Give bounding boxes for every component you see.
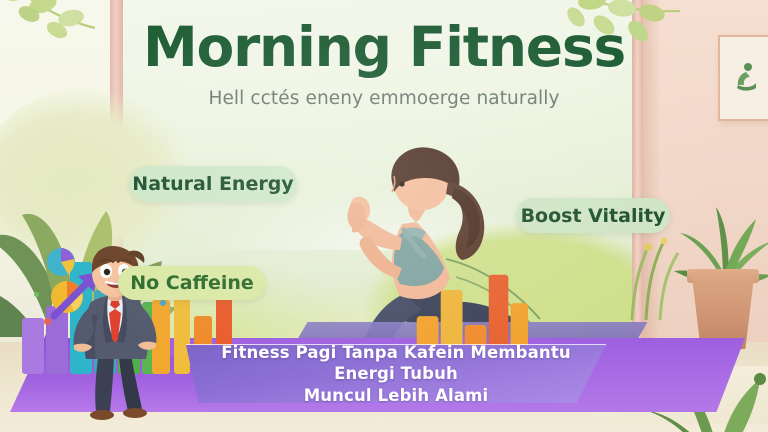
poster-canvas: Morning Fitness Hell cctés eneny emmoerg… bbox=[0, 0, 768, 432]
caption-line-2: Muncul Lebih Alami bbox=[304, 386, 489, 405]
badge-label: No Caffeine bbox=[130, 272, 254, 294]
caption-text: Fitness Pagi Tanpa Kafein Membantu Energ… bbox=[186, 342, 606, 405]
badge-natural-energy[interactable]: Natural Energy bbox=[129, 166, 297, 202]
decor-dot bbox=[34, 292, 39, 297]
caption-bar: Fitness Pagi Tanpa Kafein Membantu Energ… bbox=[186, 345, 606, 403]
badge-no-caffeine[interactable]: No Caffeine bbox=[118, 266, 266, 300]
badge-label: Boost Vitality bbox=[521, 205, 666, 227]
badge-boost-vitality[interactable]: Boost Vitality bbox=[516, 198, 670, 233]
leaf-icon bbox=[540, 0, 740, 95]
caption-line-1: Fitness Pagi Tanpa Kafein Membantu Energ… bbox=[221, 343, 571, 383]
badge-label: Natural Energy bbox=[132, 173, 293, 195]
decor-dot bbox=[44, 318, 51, 325]
